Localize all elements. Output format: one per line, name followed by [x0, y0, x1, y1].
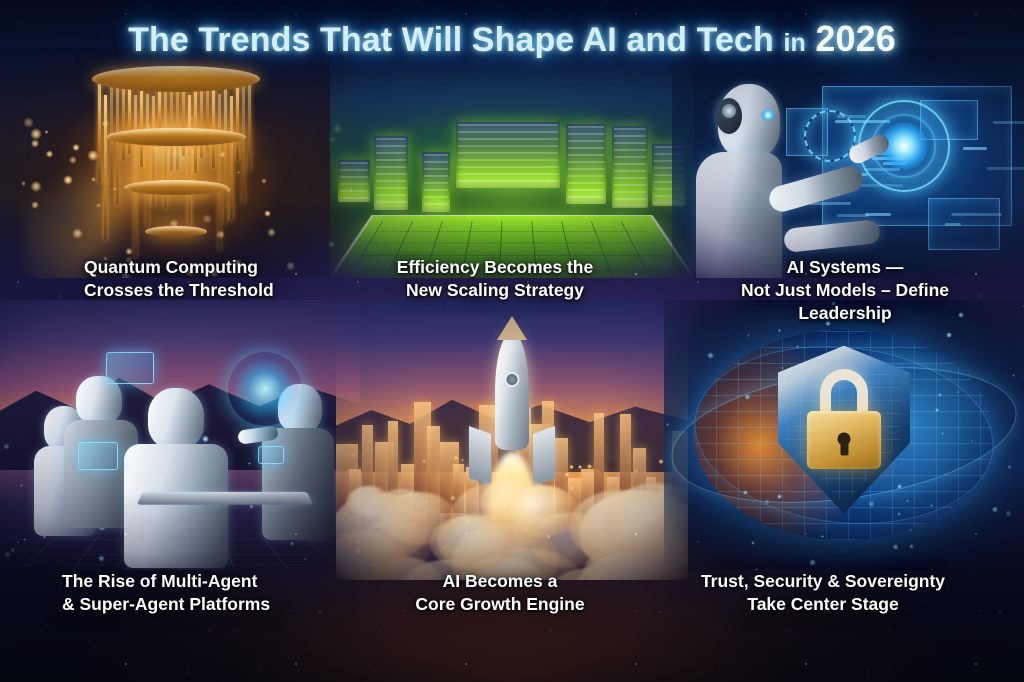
- quantum-ring-3: [124, 180, 228, 195]
- title-year: 2026: [815, 18, 896, 59]
- datacenter-tower-7: [338, 160, 370, 202]
- caption-line: Crosses the Threshold: [84, 279, 274, 302]
- rocket-nose-cone: [497, 316, 527, 340]
- light-spark: [264, 210, 271, 217]
- exhaust-puff: [506, 485, 579, 537]
- quantum-rod: [200, 88, 203, 158]
- light-spark: [69, 156, 77, 164]
- skyline-light: [587, 464, 592, 469]
- trend-image-quantum-computing: [0, 48, 352, 278]
- exhaust-puff: [437, 514, 515, 570]
- trend-caption-ai-growth-engine: AI Becomes a Core Growth Engine: [400, 570, 600, 616]
- trend-caption-multi-agent-platforms: The Rise of Multi-Agent & Super-Agent Pl…: [62, 570, 270, 616]
- caption-line: AI Systems —: [700, 256, 990, 279]
- city-light: [4, 551, 10, 557]
- light-spark: [72, 144, 79, 151]
- quantum-rod: [122, 87, 125, 160]
- datacenter-tower-1: [374, 136, 408, 210]
- holographic-screen-1: [106, 352, 154, 384]
- rocket-fin-left: [469, 426, 491, 486]
- network-node: [707, 352, 714, 359]
- quantum-rod: [104, 95, 107, 239]
- caption-line: Trust, Security & Sovereignty: [688, 570, 958, 593]
- quantum-rod: [188, 95, 191, 225]
- hud-data-line: [945, 223, 961, 226]
- rocket-icon: [467, 318, 557, 478]
- quantum-ring-1: [92, 66, 260, 92]
- network-node: [1007, 465, 1012, 470]
- hud-sub-panel-b: [928, 198, 1000, 250]
- network-node: [744, 394, 750, 400]
- quantum-rod: [236, 78, 239, 160]
- light-spark: [286, 261, 295, 270]
- network-node: [781, 367, 783, 369]
- light-spark: [23, 117, 34, 128]
- hud-data-line: [809, 202, 851, 205]
- rocket-porthole: [505, 372, 520, 387]
- light-spark: [261, 178, 267, 184]
- quantum-rods: [98, 78, 254, 246]
- skyline-light: [569, 465, 573, 469]
- hud-data-line: [837, 214, 868, 217]
- network-node: [743, 490, 748, 495]
- holographic-screen-2: [78, 442, 118, 470]
- quantum-rod: [218, 94, 221, 250]
- trend-caption-ai-systems-leadership: AI Systems — Not Just Models – Define Le…: [700, 256, 990, 325]
- datacenter-tower-5: [612, 126, 648, 208]
- holographic-screen-3: [258, 446, 284, 464]
- quantum-rod: [230, 96, 233, 220]
- network-node: [938, 393, 942, 397]
- hud-data-line: [987, 167, 1024, 170]
- exhaust-puff: [336, 493, 429, 563]
- hud-data-line: [993, 121, 1024, 124]
- robot-eye: [760, 110, 776, 120]
- network-node: [1005, 510, 1012, 517]
- city-light: [10, 547, 16, 553]
- light-spark: [72, 228, 82, 238]
- city-light: [23, 538, 26, 541]
- light-spark: [30, 128, 42, 140]
- skyline-light: [453, 455, 459, 461]
- quantum-rod: [248, 84, 251, 171]
- network-node: [778, 329, 781, 332]
- trend-image-ai-systems-leadership: [672, 48, 1024, 278]
- network-node: [868, 501, 874, 507]
- network-node: [930, 504, 933, 507]
- padlock-body-icon: [807, 411, 881, 469]
- holographic-orb: [228, 352, 302, 426]
- network-node: [747, 334, 750, 337]
- caption-line: Take Center Stage: [688, 593, 958, 616]
- caption-line: New Scaling Strategy: [380, 279, 610, 302]
- quantum-rod: [98, 83, 101, 183]
- rocket-fin-right: [533, 426, 555, 486]
- network-node: [941, 432, 944, 435]
- conference-table: [137, 492, 314, 505]
- hud-data-line: [963, 147, 987, 150]
- caption-line: Core Growth Engine: [400, 593, 600, 616]
- city-light: [290, 541, 295, 546]
- light-spark: [63, 175, 73, 185]
- light-spark: [45, 130, 49, 134]
- robot-agent-3-head: [148, 388, 204, 448]
- network-node: [992, 506, 999, 513]
- datacenter-tower-2: [422, 152, 450, 212]
- quantum-ring-4: [145, 226, 207, 237]
- light-spark: [267, 228, 276, 237]
- light-spark: [46, 150, 54, 158]
- network-node: [796, 345, 799, 348]
- caption-line: Quantum Computing: [84, 256, 274, 279]
- network-node: [892, 544, 898, 550]
- quantum-computer-chandelier-icon: [91, 66, 261, 256]
- robot-agent-4-torso: [262, 428, 334, 540]
- trend-image-trust-security-sovereignty: [664, 300, 1024, 570]
- light-spark: [21, 181, 26, 186]
- trend-image-efficiency-scaling: [330, 48, 694, 278]
- datacenter-tower-4: [566, 124, 606, 204]
- rocket-body: [495, 332, 529, 450]
- city-light: [248, 462, 251, 465]
- trend-caption-quantum-computing: Quantum Computing Crosses the Threshold: [84, 256, 274, 302]
- network-node: [897, 512, 901, 516]
- trend-caption-trust-security-sovereignty: Trust, Security & Sovereignty Take Cente…: [688, 570, 958, 616]
- light-spark: [30, 181, 42, 193]
- caption-line: Leadership: [700, 302, 990, 325]
- trend-image-multi-agent-platforms: [0, 300, 360, 570]
- datacenter-tower-3: [456, 122, 560, 188]
- quantum-rod: [212, 85, 215, 168]
- quantum-ring-2: [106, 128, 246, 146]
- caption-line: The Rise of Multi-Agent: [62, 570, 270, 593]
- network-node: [906, 500, 908, 502]
- caption-line: & Super-Agent Platforms: [62, 593, 270, 616]
- network-node: [1012, 374, 1015, 377]
- caption-line: Efficiency Becomes the: [380, 256, 610, 279]
- quantum-rod: [134, 95, 137, 258]
- page-title: The Trends That Will Shape AI and Tech i…: [0, 18, 1024, 60]
- title-main: The Trends That Will Shape AI and Tech: [128, 21, 774, 59]
- network-node: [946, 332, 952, 338]
- network-node: [666, 423, 669, 426]
- hud-data-line: [951, 213, 1003, 216]
- quantum-rod: [242, 84, 245, 204]
- padlock-keyhole-icon: [838, 433, 851, 446]
- robot-ear-core: [722, 104, 736, 118]
- quantum-rod: [146, 94, 149, 225]
- light-spark: [31, 201, 40, 210]
- trend-caption-efficiency-scaling: Efficiency Becomes the New Scaling Strat…: [380, 256, 610, 302]
- network-node: [957, 391, 959, 393]
- network-node: [809, 559, 816, 566]
- title-connector: in: [783, 29, 805, 57]
- caption-line: Not Just Models – Define: [700, 279, 990, 302]
- skyline-light: [422, 459, 426, 463]
- infographic-poster: The Trends That Will Shape AI and Tech i…: [0, 0, 1024, 682]
- quantum-rod: [224, 89, 227, 223]
- caption-line: AI Becomes a: [400, 570, 600, 593]
- skyline-light: [564, 472, 569, 477]
- light-spark: [31, 139, 39, 147]
- padlock-shackle-icon: [820, 369, 868, 415]
- quantum-rod: [128, 89, 131, 154]
- trend-image-ai-growth-engine: [336, 300, 688, 580]
- robot-agent-3-torso: [124, 444, 228, 568]
